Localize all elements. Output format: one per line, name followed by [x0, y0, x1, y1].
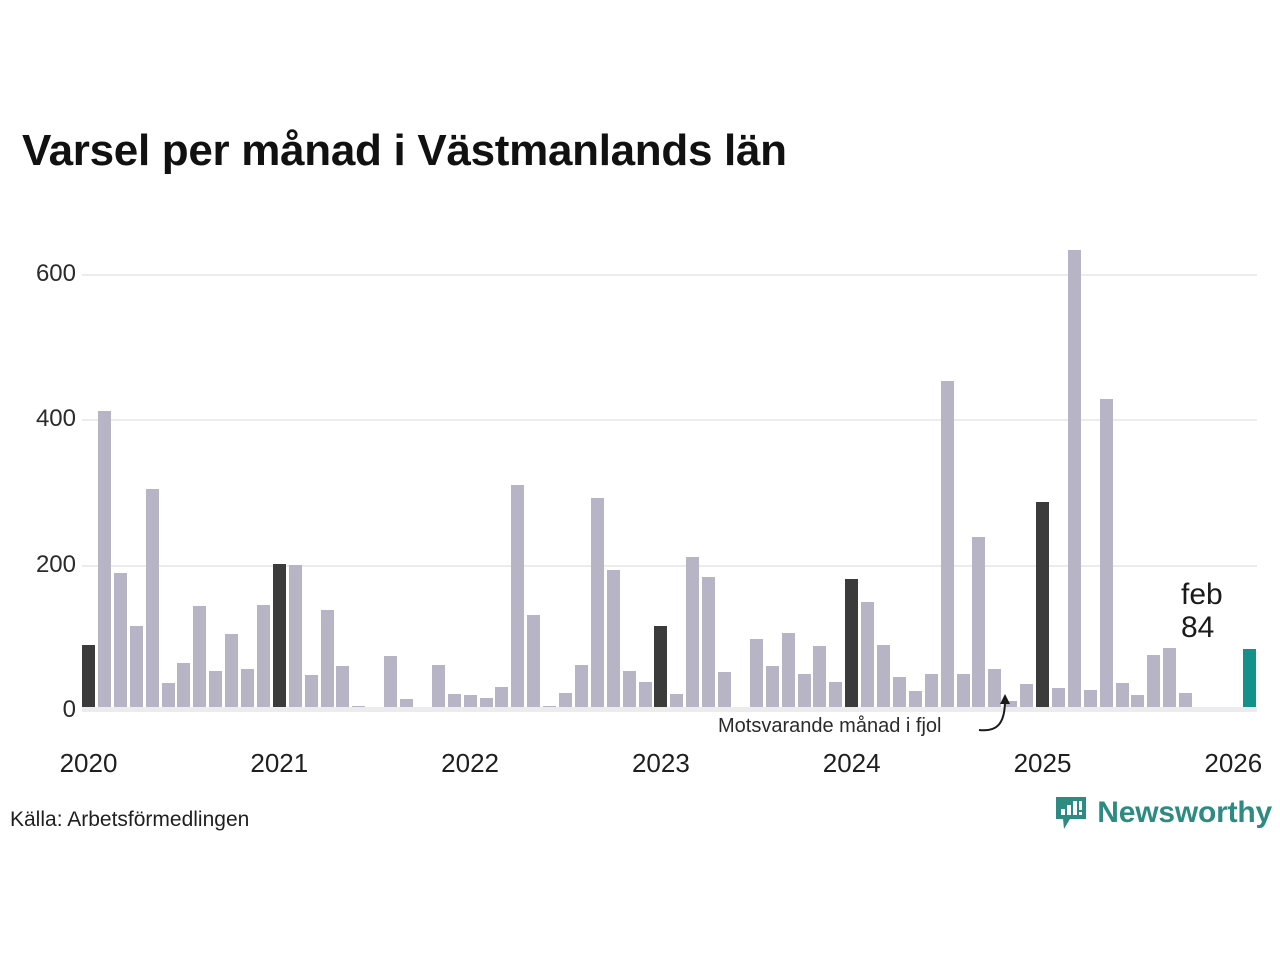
bar[interactable] [432, 665, 445, 710]
bar[interactable] [511, 485, 524, 710]
bar[interactable] [766, 666, 779, 710]
curved-arrow-icon [975, 690, 1019, 734]
bar[interactable] [1068, 250, 1081, 710]
bar[interactable] [1116, 683, 1129, 710]
x-axis-tick-label: 2026 [1204, 748, 1262, 779]
bar-series [82, 230, 1262, 710]
bar[interactable] [177, 663, 190, 710]
bar[interactable] [639, 682, 652, 710]
x-axis-tick-label: 2024 [823, 748, 881, 779]
bar[interactable] [941, 381, 954, 710]
bar[interactable] [861, 602, 874, 710]
page-title: Varsel per månad i Västmanlands län [22, 126, 787, 176]
bar[interactable] [98, 411, 111, 710]
bar[interactable] [702, 577, 715, 710]
bar[interactable] [1036, 502, 1049, 710]
bar[interactable] [1243, 649, 1256, 710]
bar[interactable] [1100, 399, 1113, 710]
chart-card: Varsel per månad i Västmanlands län 0200… [0, 0, 1280, 960]
plot-area: 0200400600 [82, 230, 1262, 710]
y-axis-tick-label: 600 [36, 260, 76, 288]
bar[interactable] [623, 671, 636, 710]
bar[interactable] [146, 489, 159, 710]
bar[interactable] [193, 606, 206, 710]
bar[interactable] [607, 570, 620, 710]
bar[interactable] [1163, 648, 1176, 710]
x-axis-tick-label: 2022 [441, 748, 499, 779]
annotation-label: Motsvarande månad i fjol [718, 715, 941, 738]
bar[interactable] [925, 674, 938, 710]
bar[interactable] [957, 674, 970, 710]
current-value-label: 84 [1181, 611, 1223, 644]
current-period-label: feb [1181, 578, 1223, 611]
bar[interactable] [829, 682, 842, 710]
y-axis-tick-label: 400 [36, 405, 76, 433]
bar[interactable] [241, 669, 254, 710]
bar[interactable] [575, 665, 588, 710]
bar[interactable] [782, 633, 795, 710]
source-note: Källa: Arbetsförmedlingen [10, 808, 249, 832]
bar[interactable] [798, 674, 811, 710]
bar[interactable] [162, 683, 175, 710]
brand-logo[interactable]: Newsworthy [1054, 795, 1272, 831]
bar[interactable] [305, 675, 318, 710]
bar[interactable] [321, 610, 334, 710]
brand-name: Newsworthy [1097, 796, 1272, 830]
x-axis-tick-label: 2020 [60, 748, 118, 779]
bar[interactable] [257, 605, 270, 710]
bar[interactable] [130, 626, 143, 710]
bar[interactable] [654, 626, 667, 710]
bar[interactable] [813, 646, 826, 710]
bar[interactable] [718, 672, 731, 710]
bar[interactable] [82, 645, 95, 710]
bar[interactable] [877, 645, 890, 710]
bar[interactable] [686, 557, 699, 710]
bar[interactable] [384, 656, 397, 710]
x-axis-tick-label: 2025 [1014, 748, 1072, 779]
current-value-callout: feb 84 [1181, 578, 1223, 644]
x-axis-tick-label: 2023 [632, 748, 690, 779]
bar[interactable] [972, 537, 985, 710]
bar[interactable] [336, 666, 349, 710]
bar[interactable] [114, 573, 127, 710]
bar[interactable] [893, 677, 906, 710]
x-axis-baseline [82, 707, 1257, 710]
bar[interactable] [289, 565, 302, 710]
y-axis-tick-label: 0 [63, 696, 76, 724]
x-axis-tick-label: 2021 [250, 748, 308, 779]
bar[interactable] [209, 671, 222, 710]
bar-chart-bubble-icon [1054, 795, 1088, 831]
gridline [82, 710, 1257, 712]
bar[interactable] [225, 634, 238, 710]
bar[interactable] [273, 564, 286, 710]
bar[interactable] [845, 579, 858, 710]
bar[interactable] [527, 615, 540, 710]
bar[interactable] [1147, 655, 1160, 710]
bar[interactable] [591, 498, 604, 710]
bar[interactable] [750, 639, 763, 710]
y-axis-tick-label: 200 [36, 551, 76, 579]
